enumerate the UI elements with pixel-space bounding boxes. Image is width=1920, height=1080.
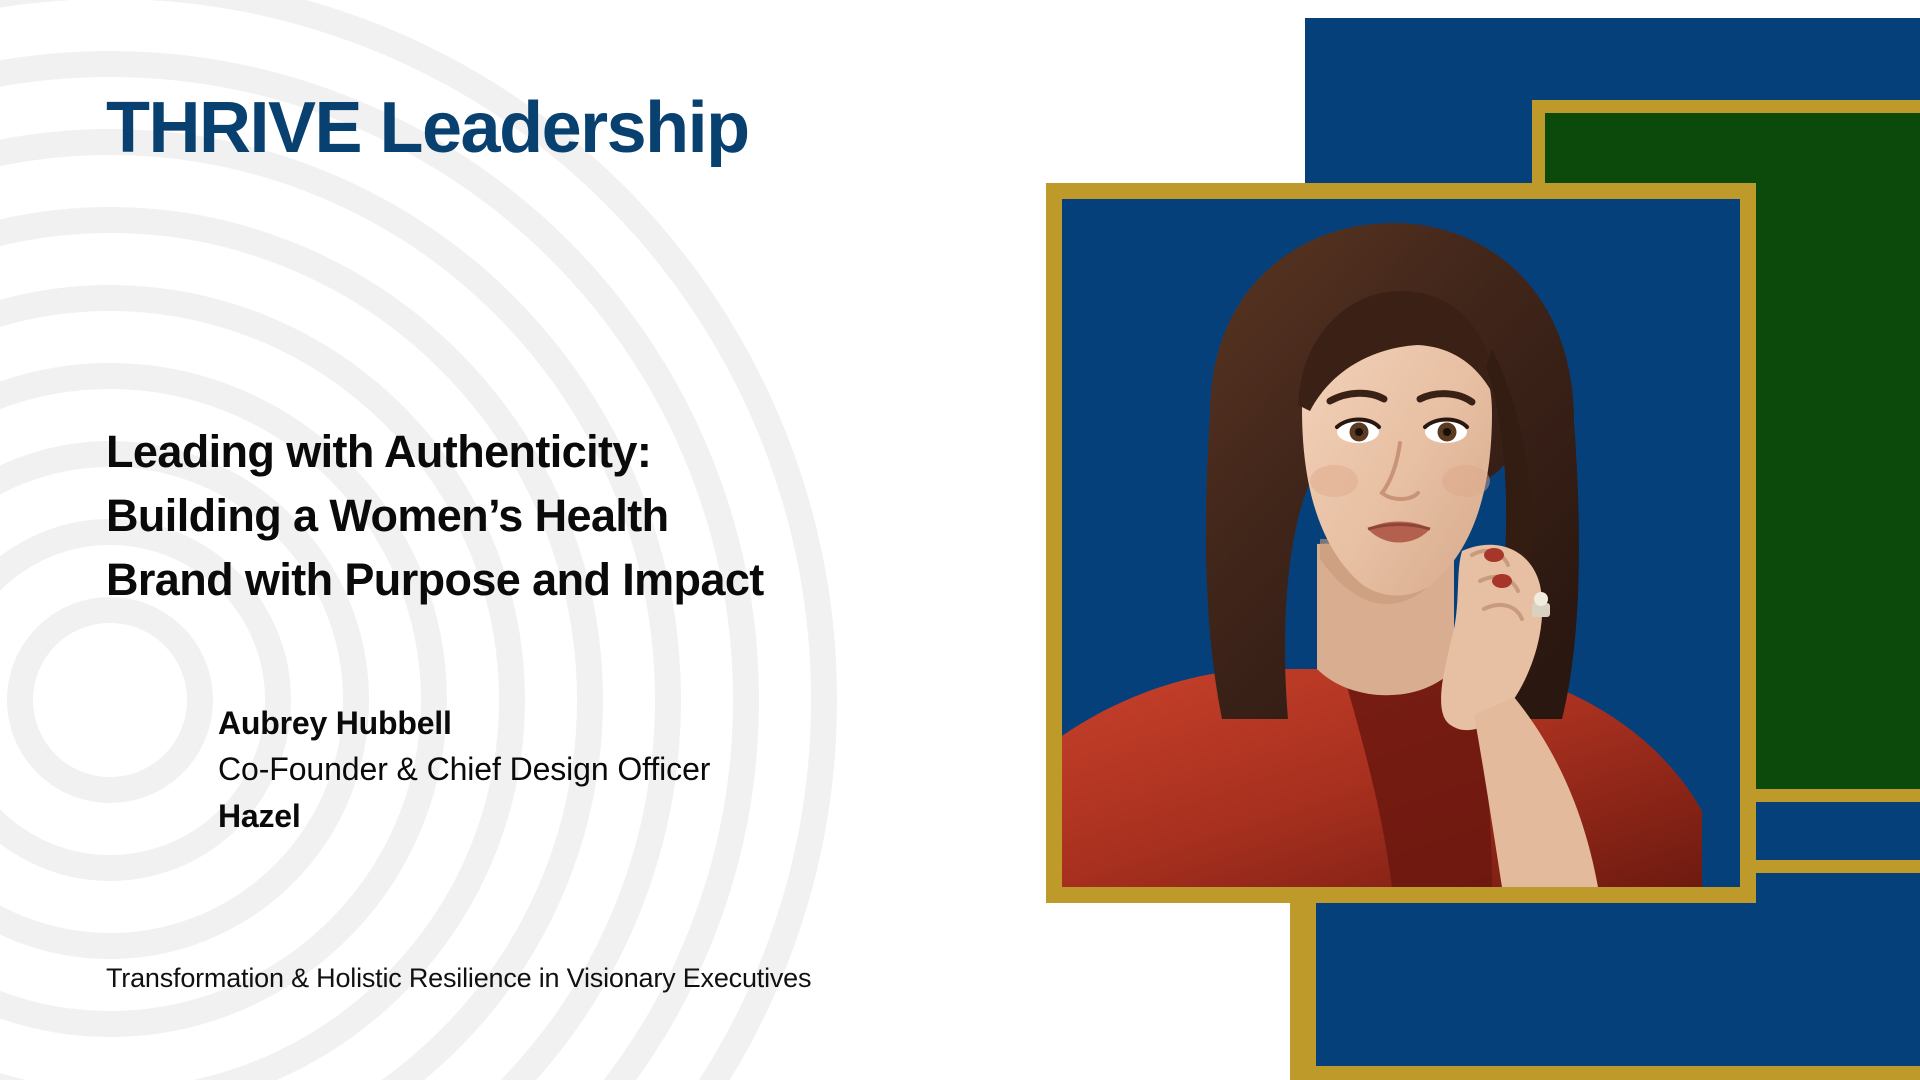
text-column: THRIVE Leadership Leading with Authentic… bbox=[0, 0, 1060, 1080]
speaker-role: Co-Founder & Chief Design Officer bbox=[218, 746, 1038, 792]
headline-line-2: Building a Women’s Health bbox=[106, 484, 1006, 548]
page-title: THRIVE Leadership bbox=[106, 92, 749, 164]
session-headline: Leading with Authenticity: Building a Wo… bbox=[106, 420, 1006, 612]
speaker-name: Aubrey Hubbell bbox=[218, 700, 1038, 746]
headline-line-1: Leading with Authenticity: bbox=[106, 420, 1006, 484]
speaker-photo-frame bbox=[1046, 183, 1756, 903]
speaker-organization: Hazel bbox=[218, 793, 1038, 839]
presentation-slide: THRIVE Leadership Leading with Authentic… bbox=[0, 0, 1920, 1080]
headline-line-3: Brand with Purpose and Impact bbox=[106, 548, 1006, 612]
portrait-illustration bbox=[1062, 199, 1740, 887]
speaker-photo bbox=[1062, 199, 1740, 887]
event-tagline: Transformation & Holistic Resilience in … bbox=[106, 963, 811, 994]
speaker-block: Aubrey Hubbell Co-Founder & Chief Design… bbox=[218, 700, 1038, 839]
